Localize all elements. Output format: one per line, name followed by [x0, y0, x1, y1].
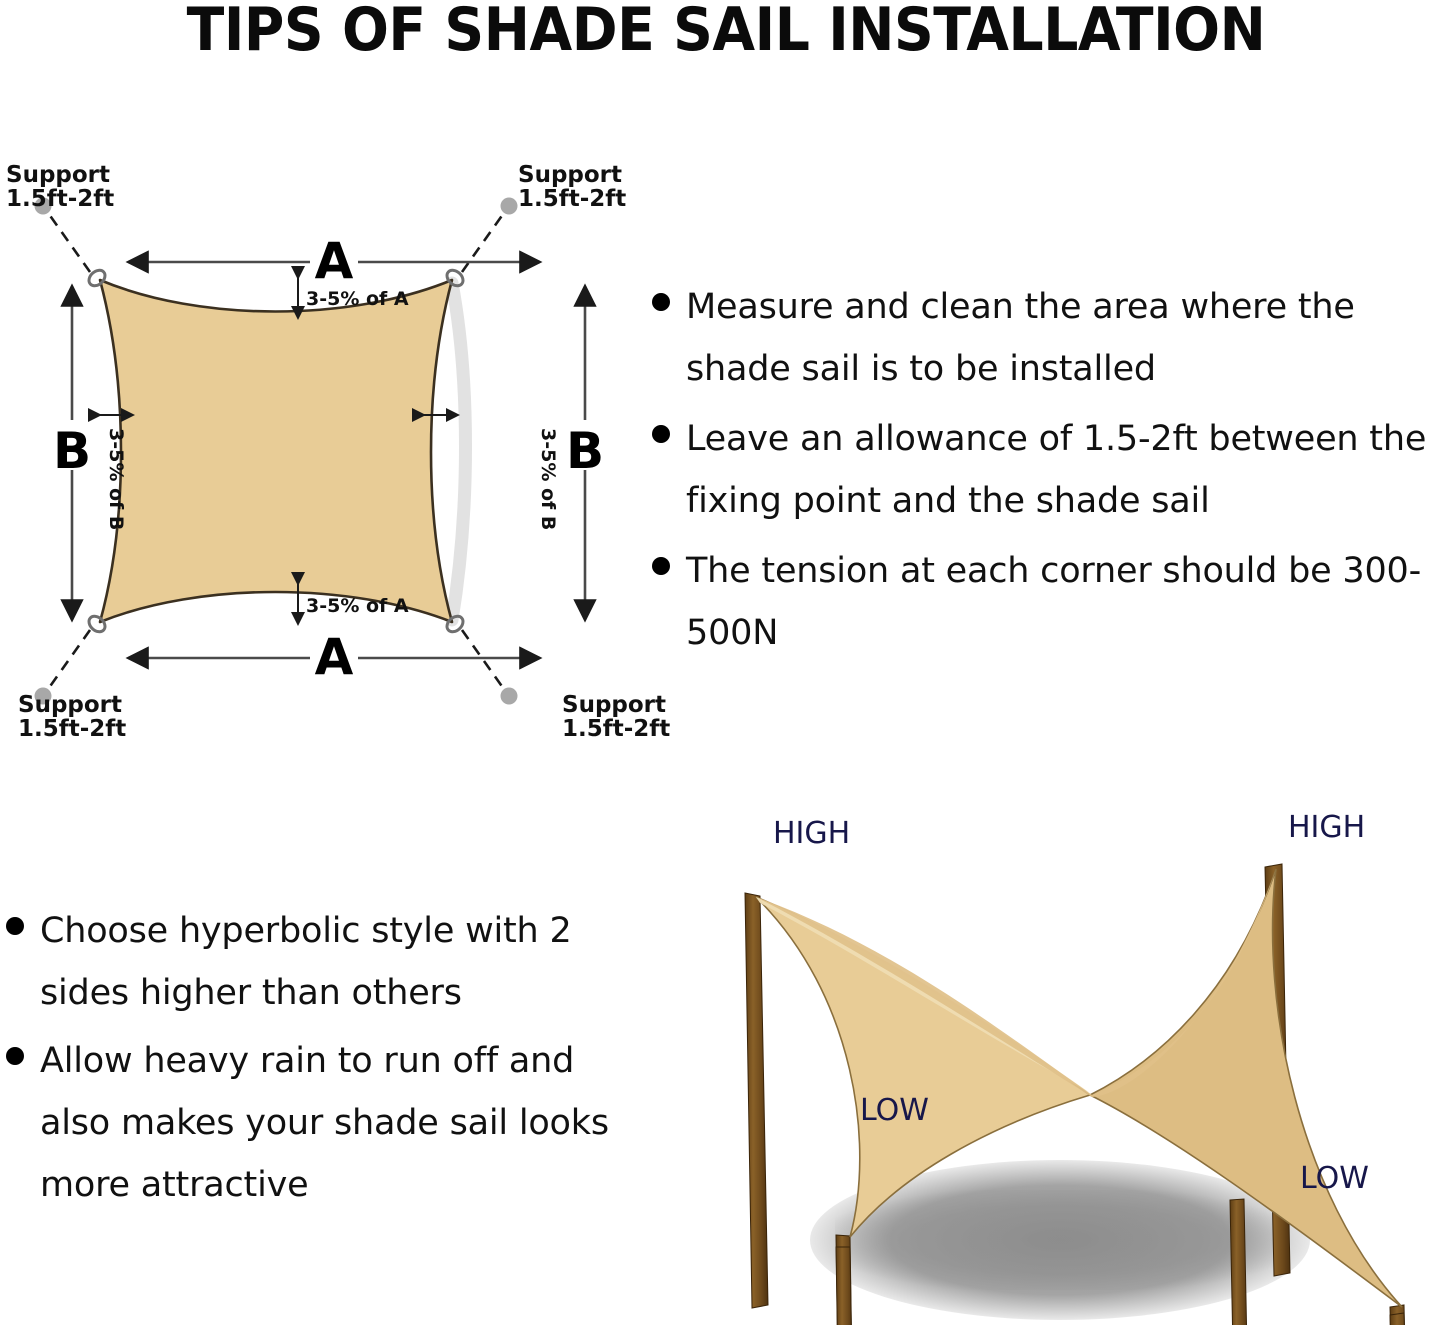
support-label-line2: 1.5ft-2ft: [6, 186, 114, 212]
dimension-a-top-label: A: [315, 232, 354, 290]
support-label-top-left: Support 1.5ft-2ft: [6, 162, 114, 212]
dimension-a-bottom-label: A: [315, 628, 354, 686]
page-title: TIPS OF SHADE SAIL INSTALLATION: [58, 0, 1394, 64]
post-low-left-front: [836, 1247, 853, 1325]
dimension-a-top: A: [128, 232, 540, 290]
list-item-label: Choose hyperbolic style with 2 sides hig…: [40, 900, 626, 1024]
hyperbolic-sail-illustration: HIGH HIGH LOW LOW: [660, 795, 1452, 1325]
curve-label-top-text: 3-5% of A: [306, 288, 409, 310]
support-label-line2: 1.5ft-2ft: [518, 186, 626, 212]
post-label-high-right: HIGH: [1288, 810, 1365, 845]
curve-label-bottom-text: 3-5% of A: [306, 595, 409, 617]
reference-edge-right: [452, 283, 466, 620]
bullet-dot-icon: [6, 917, 24, 935]
post-high-left: [745, 893, 768, 1308]
support-label-top-right: Support 1.5ft-2ft: [518, 162, 626, 212]
post-label-low-left: LOW: [860, 1093, 929, 1128]
post-low-right-front: [1390, 1313, 1410, 1325]
list-item-label: Measure and clean the area where the sha…: [686, 276, 1452, 400]
bullet-dot-icon: [6, 1047, 24, 1065]
post-label-high-left: HIGH: [773, 816, 850, 851]
support-label-line2: 1.5ft-2ft: [562, 716, 670, 742]
dimension-b-right: B: [566, 286, 604, 620]
curve-label-left-text: 3-5% of B: [105, 428, 127, 530]
post-label-low-right: LOW: [1300, 1161, 1369, 1196]
rectangle-sail-diagram: Support 1.5ft-2ft Support 1.5ft-2ft Supp…: [0, 150, 660, 750]
curve-label-right-text: 3-5% of B: [537, 428, 559, 530]
dimension-b-right-label: B: [566, 422, 604, 480]
list-item: The tension at each corner should be 300…: [652, 540, 1452, 664]
dimension-a-bottom: A: [128, 628, 540, 686]
support-label-line2: 1.5ft-2ft: [18, 716, 126, 742]
support-label-bottom-left: Support 1.5ft-2ft: [18, 692, 126, 742]
bullet-dot-icon: [652, 425, 670, 443]
support-label-line1: Support: [518, 162, 622, 188]
support-label-line1: Support: [562, 692, 666, 718]
list-item-label: The tension at each corner should be 300…: [686, 540, 1452, 664]
list-item: Leave an allowance of 1.5-2ft between th…: [652, 408, 1452, 532]
shade-sail-shape: [100, 280, 452, 622]
hyperbolic-style-tips-list: Choose hyperbolic style with 2 sides hig…: [6, 900, 626, 1222]
list-item: Allow heavy rain to run off and also mak…: [6, 1030, 626, 1216]
dimension-b-left-label: B: [53, 422, 91, 480]
installation-tips-list: Measure and clean the area where the sha…: [652, 276, 1452, 672]
list-item-label: Leave an allowance of 1.5-2ft between th…: [686, 408, 1452, 532]
list-item: Choose hyperbolic style with 2 sides hig…: [6, 900, 626, 1024]
curve-label-right: 3-5% of B: [424, 415, 559, 530]
support-label-line1: Support: [18, 692, 122, 718]
list-item-label: Allow heavy rain to run off and also mak…: [40, 1030, 626, 1216]
list-item: Measure and clean the area where the sha…: [652, 276, 1452, 400]
support-label-bottom-right: Support 1.5ft-2ft: [562, 692, 670, 742]
ground-shadow-core: [835, 1190, 1285, 1290]
support-label-line1: Support: [6, 162, 110, 188]
dimension-b-left: B: [53, 286, 91, 620]
bullet-dot-icon: [652, 293, 670, 311]
bullet-dot-icon: [652, 557, 670, 575]
